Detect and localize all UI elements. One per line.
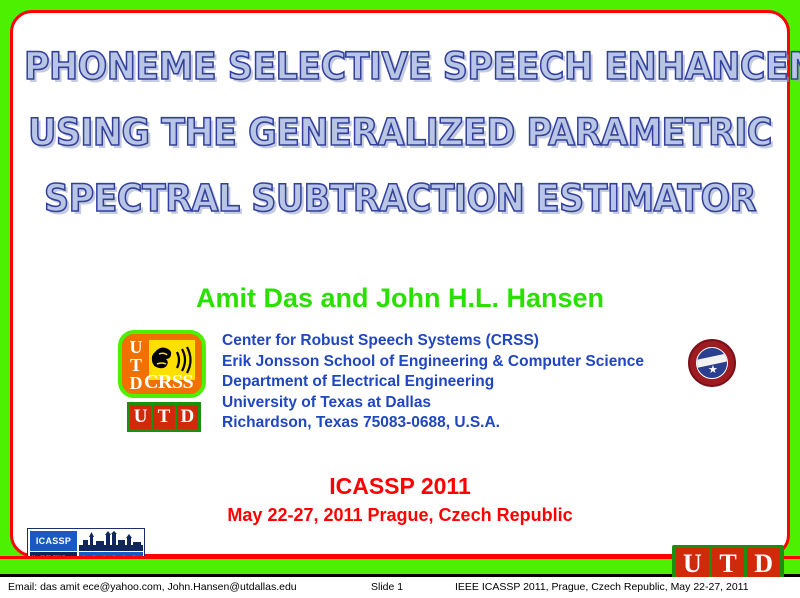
- title-line-3: SPECTRAL SUBTRACTION ESTIMATOR: [24, 166, 776, 232]
- affiliation-line-2: Erik Jonsson School of Engineering & Com…: [222, 352, 692, 373]
- utd-footer-letter-d: D: [747, 548, 780, 580]
- affiliation-line-3: Department of Electrical Engineering: [222, 372, 692, 393]
- ut-dallas-seal-icon: ★: [688, 339, 736, 387]
- utd-letter-t: T: [153, 405, 174, 429]
- footer-bar: Email: das amit ece@yahoo.com, John.Hans…: [0, 577, 800, 598]
- crss-wordmark: CRSS: [144, 371, 193, 394]
- crss-logo: UTD CRSS: [118, 330, 206, 398]
- footer-email: Email: das amit ece@yahoo.com, John.Hans…: [8, 581, 297, 593]
- utd-block-logo: U T D: [127, 402, 201, 432]
- authors-line: Amit Das and John H.L. Hansen: [0, 283, 800, 314]
- conference-date-location: May 22-27, 2011 Prague, Czech Republic: [0, 505, 800, 526]
- title-line-2: USING THE GENERALIZED PARAMETRIC: [24, 100, 776, 166]
- presentation-slide: PHONEME SELECTIVE SPEECH ENHANCEMENT USI…: [0, 0, 800, 598]
- affiliation-block: Center for Robust Speech Systems (CRSS) …: [222, 331, 692, 434]
- title-line-1: PHONEME SELECTIVE SPEECH ENHANCEMENT: [24, 34, 776, 100]
- utd-letter-d: D: [177, 405, 198, 429]
- page-title: PHONEME SELECTIVE SPEECH ENHANCEMENT USI…: [0, 34, 800, 232]
- seal-star-icon: ★: [708, 365, 718, 376]
- seal-inner: ★: [696, 347, 728, 379]
- footer-conference-info: IEEE ICASSP 2011, Prague, Czech Republic…: [455, 581, 749, 593]
- icassp-wordmark: ICASSP: [30, 531, 77, 551]
- utd-footer-letter-u: U: [676, 548, 709, 580]
- affiliation-line-5: Richardson, Texas 75083-0688, U.S.A.: [222, 413, 692, 434]
- affiliation-line-1: Center for Robust Speech Systems (CRSS): [222, 331, 692, 352]
- affiliation-line-4: University of Texas at Dallas: [222, 393, 692, 414]
- footer-slide-number: Slide 1: [371, 581, 403, 593]
- conference-name: ICASSP 2011: [0, 473, 800, 500]
- utd-footer-letter-t: T: [712, 548, 745, 580]
- prague-skyline-icon: [79, 531, 143, 551]
- utd-letter-u: U: [130, 405, 151, 429]
